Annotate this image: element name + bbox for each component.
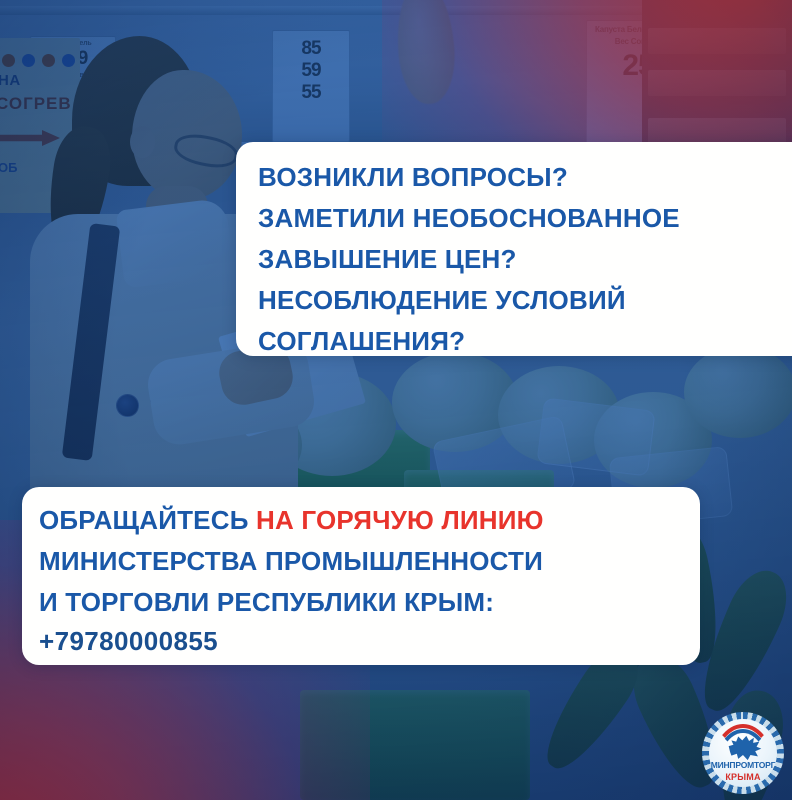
questions-line-4: НЕСОБЛЮДЕНИЕ УСЛОВИЙ — [258, 287, 626, 313]
contact-line-2: МИНИСТЕРСТВА ПРОМЫШЛЕННОСТИ — [39, 548, 543, 574]
contact-line-3: И ТОРГОВЛИ РЕСПУБЛИКИ КРЫМ: — [39, 589, 494, 615]
contact-line-1-prefix: ОБРАЩАЙТЕСЬ — [39, 505, 256, 535]
questions-card: ВОЗНИКЛИ ВОПРОСЫ? ЗАМЕТИЛИ НЕОБОСНОВАННО… — [236, 142, 792, 356]
ministry-logo: МИНПРОМТОРГ КРЫМА — [702, 712, 784, 794]
questions-line-5: СОГЛАШЕНИЯ? — [258, 328, 465, 354]
hotline-phone-number[interactable]: +79780000855 — [39, 628, 218, 654]
hotline-highlight: НА ГОРЯЧУЮ ЛИНИЮ — [256, 505, 544, 535]
poster-canvas: Картофель 149 Морковь 129 85 59 55 Капус… — [0, 0, 792, 800]
vignette — [0, 0, 792, 800]
logo-text-line-2: КРЫМА — [702, 772, 784, 782]
questions-line-2: ЗАМЕТИЛИ НЕОБОСНОВАННОЕ — [258, 205, 680, 231]
contact-line-1: ОБРАЩАЙТЕСЬ НА ГОРЯЧУЮ ЛИНИЮ — [39, 507, 544, 533]
background-photo: Картофель 149 Морковь 129 85 59 55 Капус… — [0, 0, 792, 800]
questions-line-3: ЗАВЫШЕНИЕ ЦЕН? — [258, 246, 517, 272]
questions-line-1: ВОЗНИКЛИ ВОПРОСЫ? — [258, 164, 568, 190]
contact-card: ОБРАЩАЙТЕСЬ НА ГОРЯЧУЮ ЛИНИЮ МИНИСТЕРСТВ… — [22, 487, 700, 665]
logo-text-line-1: МИНПРОМТОРГ — [702, 760, 784, 770]
